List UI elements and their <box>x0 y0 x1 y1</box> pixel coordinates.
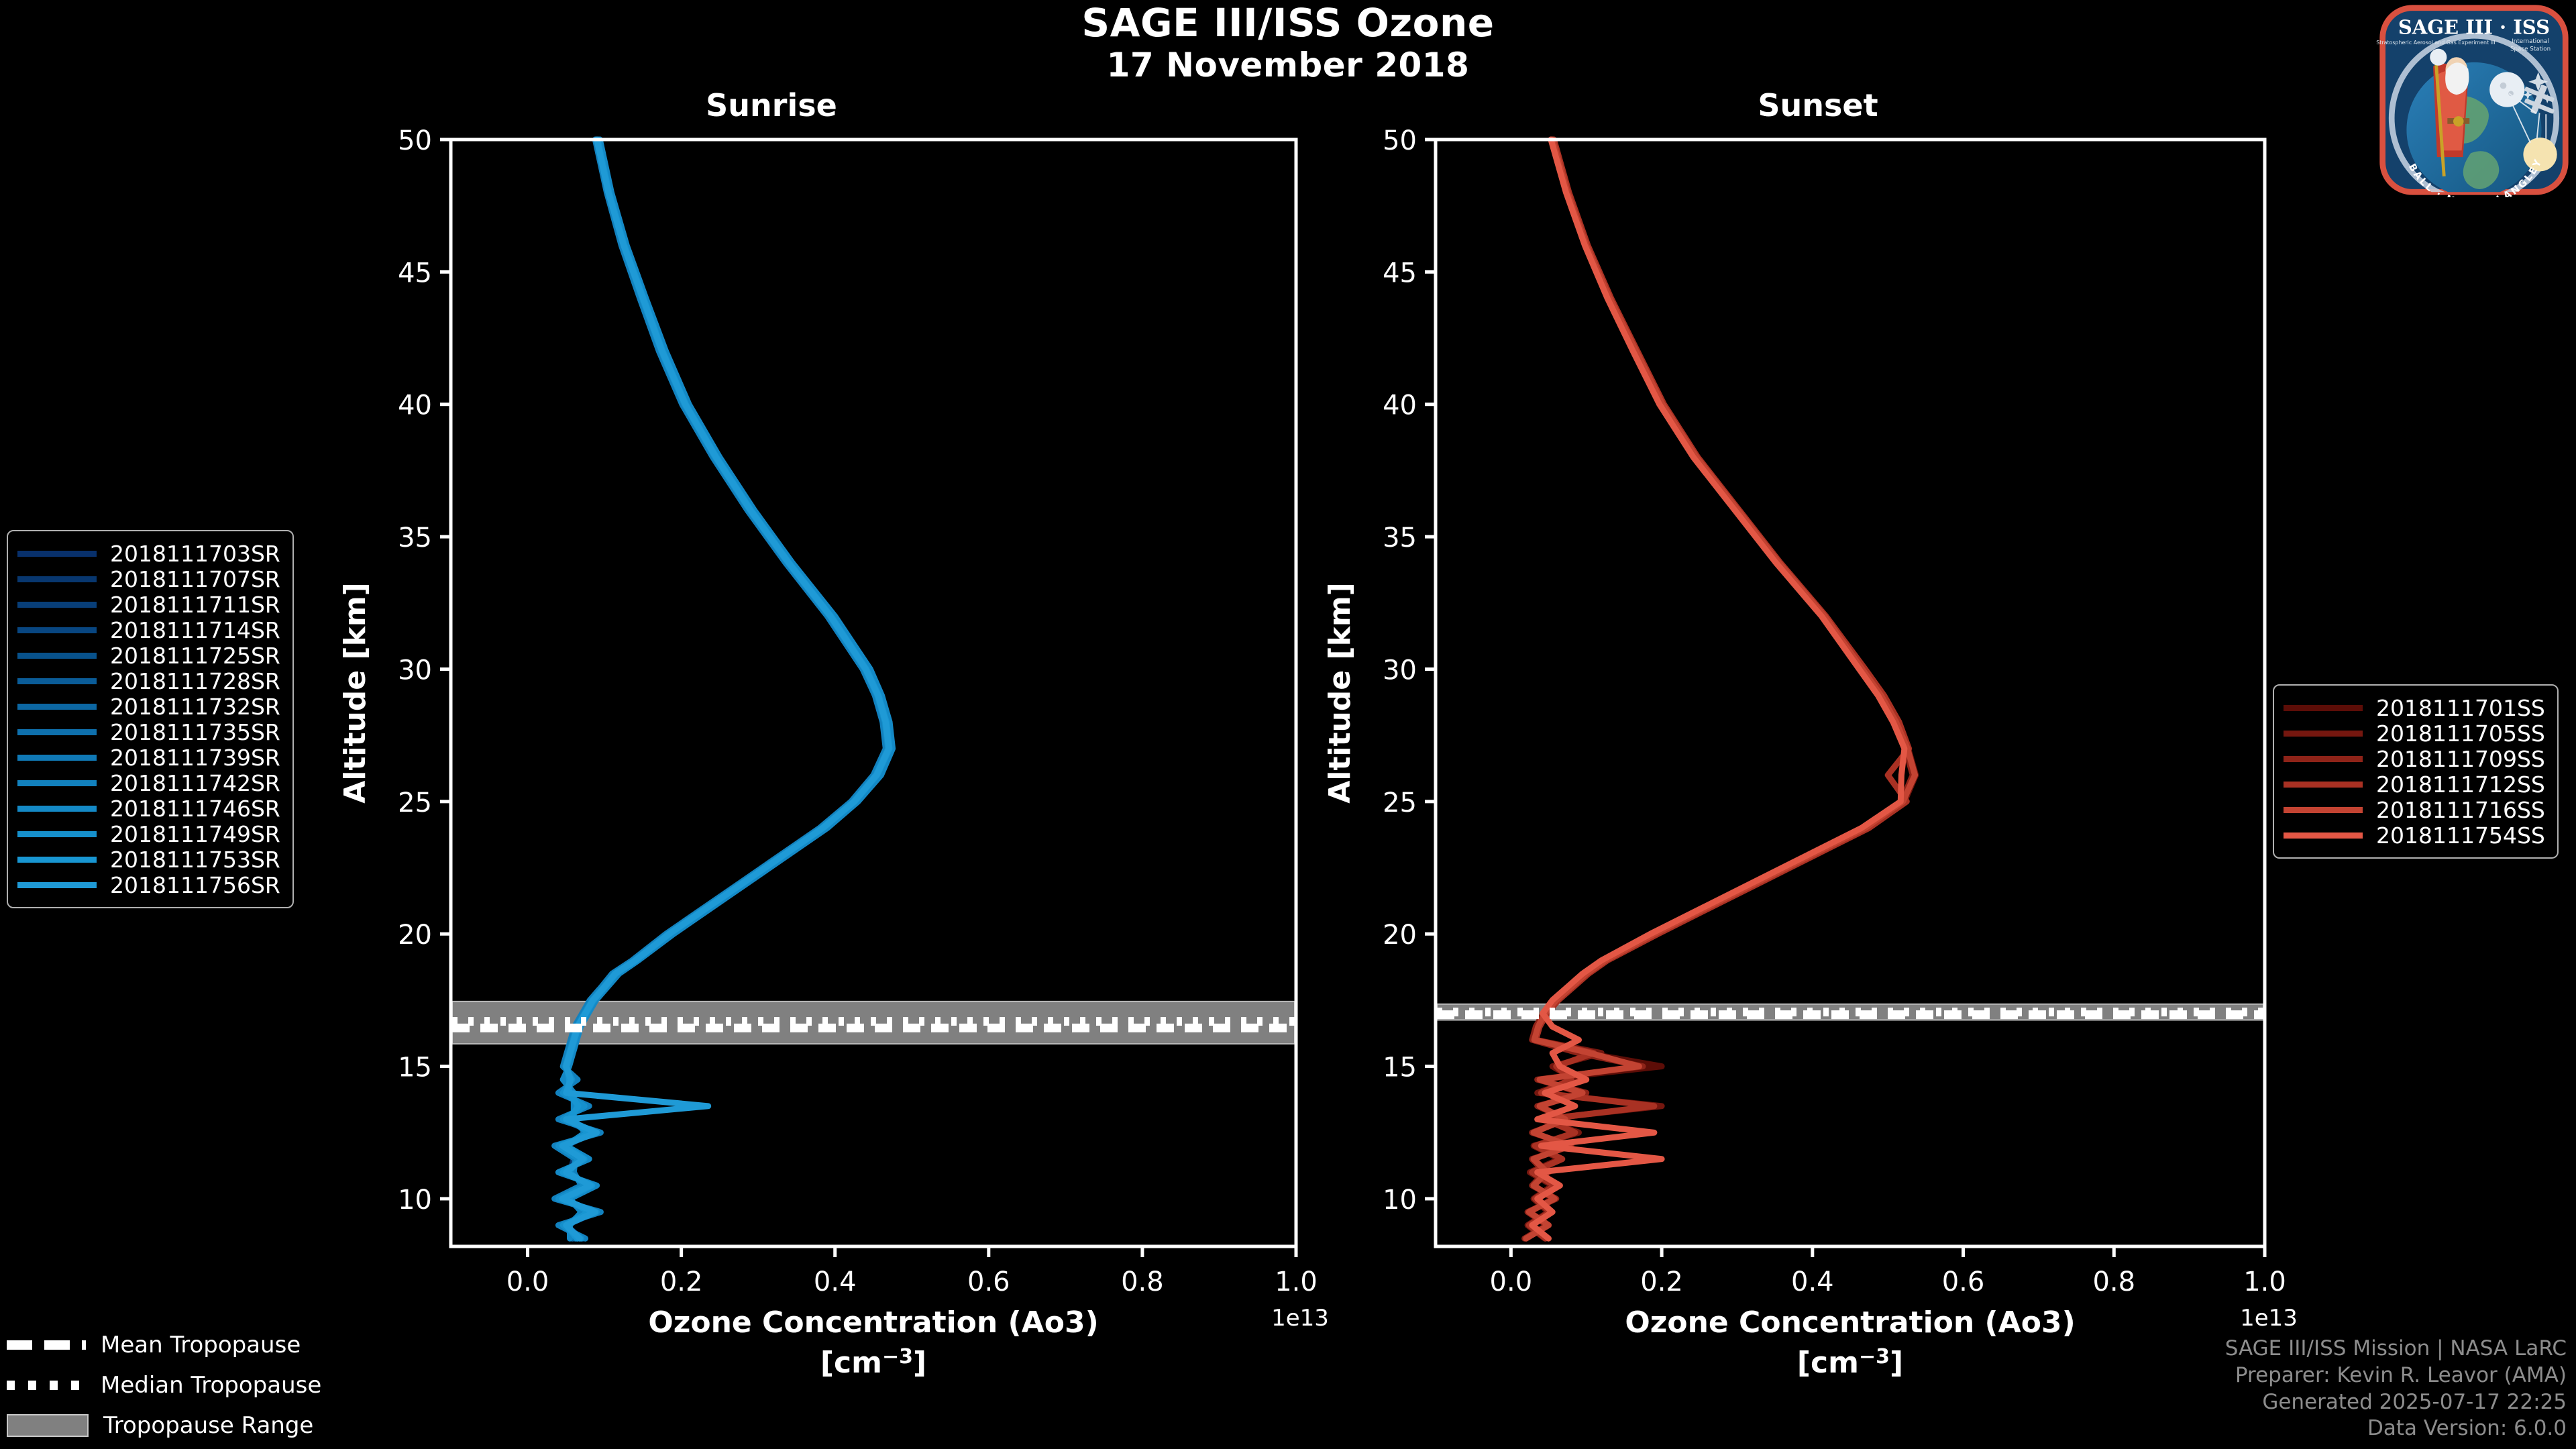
x-tick-label: 0.0 <box>1490 1267 1533 1297</box>
legend-item[interactable]: 2018111739SR <box>17 745 280 770</box>
legend-item[interactable]: 2018111701SS <box>2284 695 2545 720</box>
tropopause-legend-label: Mean Tropopause <box>101 1332 301 1358</box>
legend-label: 2018111735SR <box>110 719 280 745</box>
y-tick-label: 45 <box>398 258 432 288</box>
profile-line <box>558 140 888 1238</box>
legend-label: 2018111714SR <box>110 617 280 643</box>
tropopause-legend-item: Tropopause Range <box>7 1405 321 1446</box>
tropopause-legend-item: Median Tropopause <box>7 1365 321 1405</box>
sunset-legend[interactable]: 2018111701SS2018111705SS2018111709SS2018… <box>2273 684 2559 859</box>
credit-preparer: Preparer: Kevin R. Leavor (AMA) <box>2225 1362 2567 1389</box>
patch-title: SAGE III · ISS <box>2398 15 2550 38</box>
legend-label: 2018111712SS <box>2376 771 2545 798</box>
legend-item[interactable]: 2018111705SS <box>2284 720 2545 746</box>
ozone-profile-plots: 5045403530252015100.00.20.40.60.81.01e13… <box>0 0 2576 1449</box>
legend-color-swatch <box>2284 705 2363 711</box>
legend-label: 2018111725SR <box>110 643 280 669</box>
y-tick-label: 50 <box>1383 125 1417 156</box>
x-tick-label: 0.0 <box>506 1267 549 1297</box>
profile-line <box>565 140 890 1238</box>
legend-label: 2018111732SR <box>110 694 280 720</box>
legend-item[interactable]: 2018111709SS <box>2284 746 2545 771</box>
x-tick-label: 1.0 <box>2243 1267 2286 1297</box>
legend-label: 2018111753SR <box>110 847 280 873</box>
legend-item[interactable]: 2018111749SR <box>17 821 280 847</box>
legend-color-swatch <box>17 882 97 888</box>
credit-mission: SAGE III/ISS Mission | NASA LaRC <box>2225 1336 2567 1362</box>
y-tick-label: 25 <box>398 788 432 818</box>
legend-item[interactable]: 2018111732SR <box>17 694 280 719</box>
y-axis-label: Altitude [km] <box>338 582 372 804</box>
legend-item[interactable]: 2018111746SR <box>17 796 280 821</box>
legend-label: 2018111742SR <box>110 770 280 796</box>
x-axis-label: Ozone Concentration (Ao3) <box>648 1305 1098 1340</box>
sage-iii-iss-mission-patch-logo: SAGE III · ISS Stratospheric Aerosol and… <box>2376 3 2571 197</box>
legend-label: 2018111728SR <box>110 668 280 694</box>
tropopause-legend-item: Mean Tropopause <box>7 1325 321 1365</box>
x-tick-label: 1.0 <box>1275 1267 1318 1297</box>
legend-color-swatch <box>17 627 97 633</box>
legend-item[interactable]: 2018111756SR <box>17 872 280 898</box>
x-axis-label-units: [cm−3] <box>820 1345 926 1380</box>
legend-label: 2018111746SR <box>110 796 280 822</box>
credit-generated: Generated 2025-07-17 22:25 <box>2225 1389 2567 1416</box>
y-tick-label: 15 <box>398 1053 432 1083</box>
legend-color-swatch <box>17 602 97 608</box>
y-tick-label: 30 <box>398 655 432 686</box>
y-tick-label: 45 <box>1383 258 1417 288</box>
x-tick-label: 0.4 <box>814 1267 857 1297</box>
x-axis-label-units: [cm−3] <box>1797 1345 1903 1380</box>
legend-label: 2018111754SS <box>2376 822 2545 849</box>
x-tick-label: 0.8 <box>1121 1267 1164 1297</box>
legend-label: 2018111703SR <box>110 541 280 567</box>
legend-color-swatch <box>2284 833 2363 839</box>
legend-label: 2018111701SS <box>2376 695 2545 721</box>
tropopause-range-swatch <box>7 1414 89 1437</box>
legend-item[interactable]: 2018111728SR <box>17 668 280 694</box>
profile-line <box>562 140 888 1238</box>
legend-item[interactable]: 2018111711SR <box>17 592 280 617</box>
legend-label: 2018111716SS <box>2376 797 2545 823</box>
legend-item[interactable]: 2018111725SR <box>17 643 280 668</box>
mean-tropopause-swatch <box>7 1340 86 1350</box>
legend-label: 2018111756SR <box>110 872 280 898</box>
legend-color-swatch <box>2284 731 2363 737</box>
y-tick-label: 10 <box>398 1185 432 1216</box>
legend-color-swatch <box>17 576 97 582</box>
legend-label: 2018111711SR <box>110 592 280 618</box>
legend-item[interactable]: 2018111716SS <box>2284 797 2545 822</box>
legend-item[interactable]: 2018111742SR <box>17 770 280 796</box>
profile-line <box>558 140 889 1238</box>
profile-line <box>562 140 889 1238</box>
x-tick-label: 0.2 <box>660 1267 703 1297</box>
y-tick-label: 40 <box>1383 390 1417 421</box>
x-tick-label: 0.8 <box>2092 1267 2135 1297</box>
profile-line <box>562 140 890 1238</box>
credits-block: SAGE III/ISS Mission | NASA LaRC Prepare… <box>2225 1336 2567 1442</box>
plot-panel-sunset: 5045403530252015100.00.20.40.60.81.01e13… <box>1323 125 2298 1380</box>
legend-color-swatch <box>17 653 97 659</box>
profile-line <box>555 140 886 1238</box>
y-tick-label: 50 <box>398 125 432 156</box>
y-tick-label: 10 <box>1383 1185 1417 1216</box>
legend-color-swatch <box>17 857 97 863</box>
x-axis-label: Ozone Concentration (Ao3) <box>1625 1305 2075 1340</box>
x-axis-exponent: 1e13 <box>1271 1305 1329 1332</box>
y-tick-label: 30 <box>1383 655 1417 686</box>
legend-item[interactable]: 2018111753SR <box>17 847 280 872</box>
tropopause-legend-label: Tropopause Range <box>103 1412 313 1439</box>
sunrise-legend[interactable]: 2018111703SR2018111707SR2018111711SR2018… <box>7 530 294 908</box>
legend-item[interactable]: 2018111714SR <box>17 617 280 643</box>
y-tick-label: 35 <box>1383 523 1417 553</box>
legend-label: 2018111749SR <box>110 821 280 847</box>
profile-line <box>560 140 892 1238</box>
legend-color-swatch <box>2284 782 2363 788</box>
profile-line <box>562 140 890 1238</box>
x-tick-label: 0.6 <box>1942 1267 1985 1297</box>
legend-color-swatch <box>17 806 97 812</box>
profile-line <box>563 140 890 1238</box>
patch-subtitle-left: Stratospheric Aerosol and Gas Experiment… <box>2376 40 2495 46</box>
legend-color-swatch <box>17 831 97 837</box>
legend-item[interactable]: 2018111735SR <box>17 719 280 745</box>
legend-item[interactable]: 2018111703SR <box>17 541 280 566</box>
legend-color-swatch <box>17 729 97 735</box>
legend-item[interactable]: 2018111712SS <box>2284 771 2545 797</box>
y-tick-label: 40 <box>398 390 432 421</box>
legend-item[interactable]: 2018111707SR <box>17 566 280 592</box>
legend-label: 2018111707SR <box>110 566 280 592</box>
profile-line <box>562 140 889 1238</box>
legend-label: 2018111739SR <box>110 745 280 771</box>
legend-color-swatch <box>17 704 97 710</box>
y-tick-label: 35 <box>398 523 432 553</box>
legend-color-swatch <box>17 551 97 557</box>
y-tick-label: 20 <box>398 920 432 951</box>
legend-label: 2018111709SS <box>2376 746 2545 772</box>
x-tick-label: 0.6 <box>967 1267 1010 1297</box>
legend-color-swatch <box>17 780 97 786</box>
legend-color-swatch <box>2284 756 2363 762</box>
x-axis-exponent: 1e13 <box>2240 1305 2298 1332</box>
legend-label: 2018111705SS <box>2376 720 2545 747</box>
x-tick-label: 0.4 <box>1791 1267 1834 1297</box>
profile-line <box>558 140 892 1238</box>
legend-color-swatch <box>2284 807 2363 813</box>
svg-text:International: International <box>2512 38 2548 45</box>
svg-text:Space Station: Space Station <box>2510 46 2551 53</box>
y-tick-label: 20 <box>1383 920 1417 951</box>
credit-data-version: Data Version: 6.0.0 <box>2225 1415 2567 1442</box>
y-tick-label: 25 <box>1383 788 1417 818</box>
legend-color-swatch <box>17 678 97 684</box>
y-axis-label: Altitude [km] <box>1323 582 1357 804</box>
median-tropopause-swatch <box>7 1381 86 1390</box>
profile-line <box>557 140 886 1238</box>
profile-line <box>1526 140 1915 1238</box>
tropopause-legend-label: Median Tropopause <box>101 1372 321 1399</box>
plot-panel-sunrise: 5045403530252015100.00.20.40.60.81.01e13… <box>338 125 1329 1380</box>
x-tick-label: 0.2 <box>1640 1267 1683 1297</box>
y-tick-label: 15 <box>1383 1053 1417 1083</box>
profile-line <box>560 140 888 1238</box>
legend-item[interactable]: 2018111754SS <box>2284 822 2545 848</box>
legend-color-swatch <box>17 755 97 761</box>
tropopause-legend: Mean TropopauseMedian TropopauseTropopau… <box>7 1325 321 1446</box>
